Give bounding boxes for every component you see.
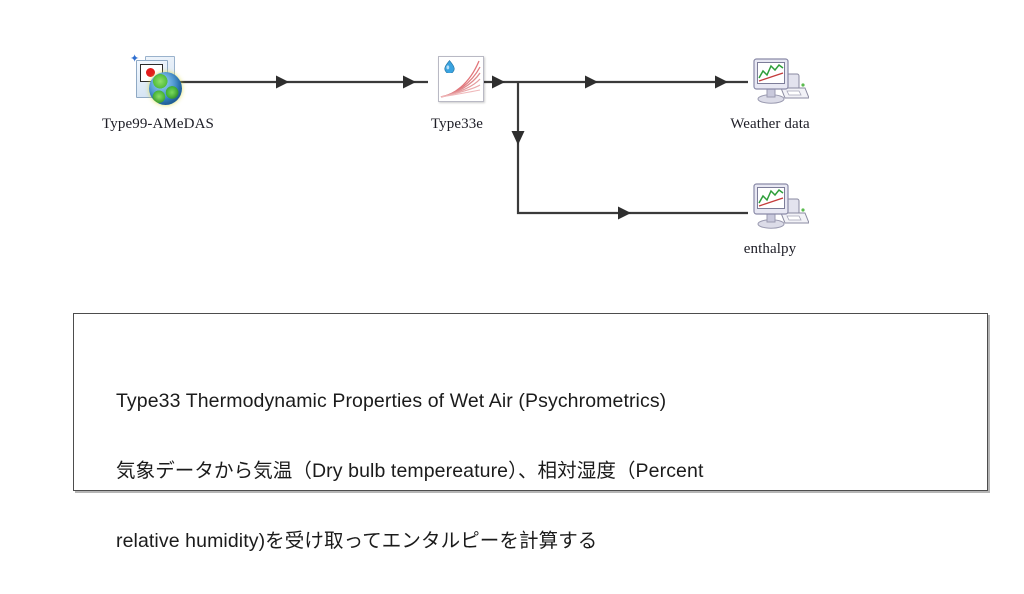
description-text: Type33 Thermodynamic Properties of Wet A… <box>116 349 967 594</box>
description-line-1: Type33 Thermodynamic Properties of Wet A… <box>116 384 967 419</box>
monitor-printer-glyph <box>751 54 809 108</box>
description-box: Type33 Thermodynamic Properties of Wet A… <box>73 313 988 491</box>
description-line-3: relative humidity)を受け取ってエンタルピーを計算する <box>116 524 967 559</box>
node-weather-data[interactable]: Weather data <box>705 50 835 133</box>
weather-data-reader-icon[interactable]: ✦ <box>125 50 191 112</box>
diagram-canvas: ✦ Type99-AMeDAS Type33e <box>0 0 1024 540</box>
monitor-printer-glyph <box>751 179 809 233</box>
sparkle-icon: ✦ <box>130 54 139 65</box>
node-label-enthalpy: enthalpy <box>705 241 835 258</box>
description-line-2: 気象データから気温（Dry bulb tempereature）、相対湿度（Pe… <box>116 454 967 489</box>
node-label-weather-data: Weather data <box>705 116 835 133</box>
node-label-type33e: Type33e <box>392 116 522 133</box>
globe-icon <box>149 72 182 105</box>
monitor-printer-icon[interactable] <box>737 175 803 237</box>
water-droplet-icon <box>444 60 455 73</box>
psychrometrics-chart-icon[interactable] <box>424 50 490 112</box>
node-type33e[interactable]: Type33e <box>392 50 522 133</box>
node-type99-amedas[interactable]: ✦ Type99-AMeDAS <box>93 50 223 133</box>
monitor-printer-icon[interactable] <box>737 50 803 112</box>
node-label-type99-amedas: Type99-AMeDAS <box>93 116 223 133</box>
node-enthalpy[interactable]: enthalpy <box>705 175 835 258</box>
